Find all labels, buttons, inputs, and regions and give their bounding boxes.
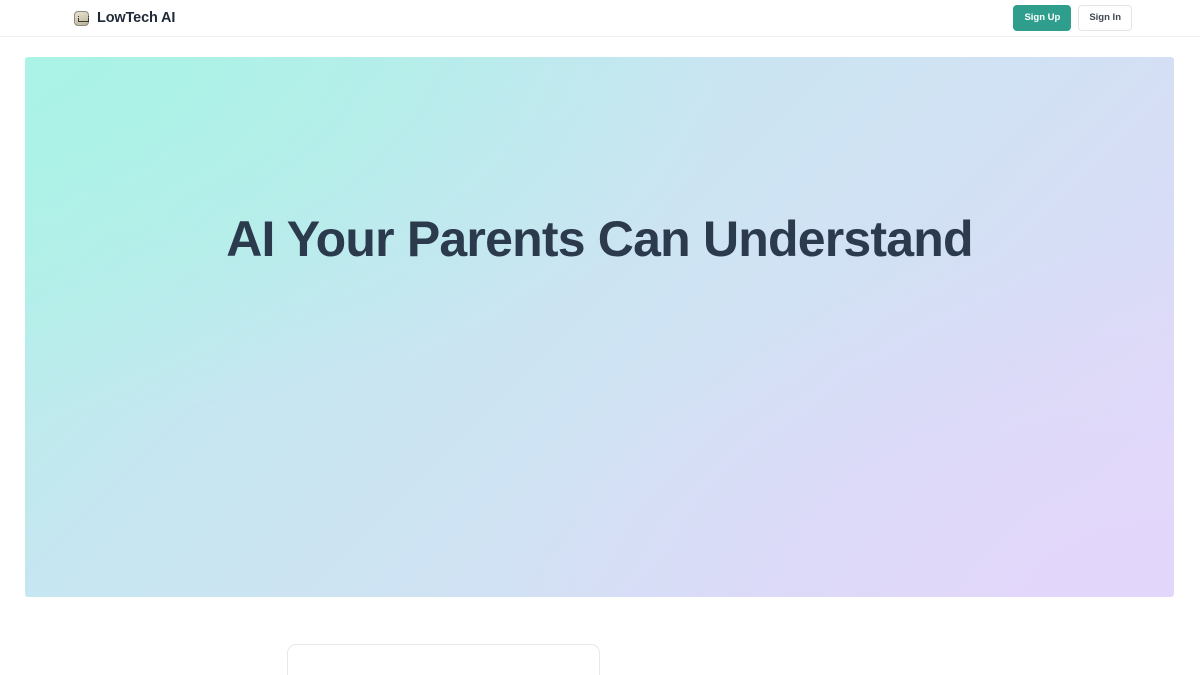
page-main: AI Your Parents Can Understand [0, 37, 1200, 597]
brand-logo-link[interactable]: LowTech AI [74, 11, 175, 26]
sign-in-button[interactable]: Sign In [1078, 5, 1132, 31]
smiley-face-logo-icon [74, 11, 89, 26]
brand-name: LowTech AI [97, 11, 175, 26]
site-header: LowTech AI Sign Up Sign In [0, 0, 1200, 37]
hero-heading: AI Your Parents Can Understand [226, 212, 973, 266]
header-actions: Sign Up Sign In [1013, 5, 1132, 31]
below-fold-section [0, 597, 1200, 675]
sign-up-button[interactable]: Sign Up [1013, 5, 1071, 31]
feature-card[interactable] [287, 644, 600, 675]
hero-banner: AI Your Parents Can Understand [25, 57, 1174, 597]
